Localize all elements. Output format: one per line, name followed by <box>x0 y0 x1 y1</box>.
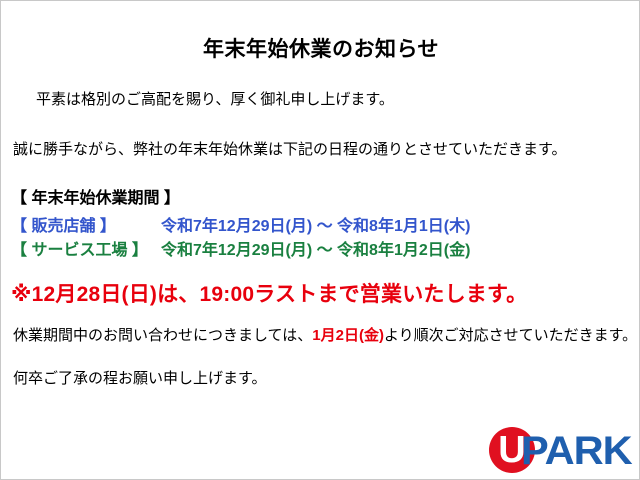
closing-text: 何卒ご了承の程お願い申し上げます。 <box>13 370 267 388</box>
schedule-row-factory: 【 サービス工場 】令和7年12月29日(月) ～ 令和8年1月2日(金) <box>11 236 470 260</box>
business-hours-alert: ※12月28日(日)は、19:00ラストまで営業いたします。 <box>11 278 527 308</box>
inquiry-text-after: より順次ご対応させていただきます。 <box>384 327 637 344</box>
intro-text: 誠に勝手ながら、弊社の年末年始休業は下記の日程の通りとさせていただきます。 <box>13 141 567 159</box>
schedule-label-shop: 【 販売店舗 】 <box>11 212 161 236</box>
page-title: 年末年始休業のお知らせ <box>1 33 640 63</box>
greeting-text: 平素は格別のご高配を賜り、厚く御礼申し上げます。 <box>21 91 394 109</box>
schedule-range-shop: 令和7年12月29日(月) ～ 令和8年1月1日(木) <box>161 212 470 236</box>
inquiry-resume-date: 1月2日(金) <box>312 327 384 344</box>
inquiry-text: 休業期間中のお問い合わせにつきましては、1月2日(金)より順次ご対応させていただ… <box>13 327 637 345</box>
logo-wordmark: PARK <box>521 431 632 471</box>
schedule-range-factory: 令和7年12月29日(月) ～ 令和8年1月2日(金) <box>161 236 470 260</box>
inquiry-text-before: 休業期間中のお問い合わせにつきましては、 <box>13 327 312 344</box>
schedule-label-factory: 【 サービス工場 】 <box>11 236 161 260</box>
holiday-period-heading: 【 年末年始休業期間 】 <box>11 184 180 208</box>
notice-page: 年末年始休業のお知らせ 平素は格別のご高配を賜り、厚く御礼申し上げます。 誠に勝… <box>0 0 640 480</box>
upark-logo: U PARK <box>489 425 637 480</box>
schedule-row-shop: 【 販売店舗 】令和7年12月29日(月) ～ 令和8年1月1日(木) <box>11 212 470 236</box>
